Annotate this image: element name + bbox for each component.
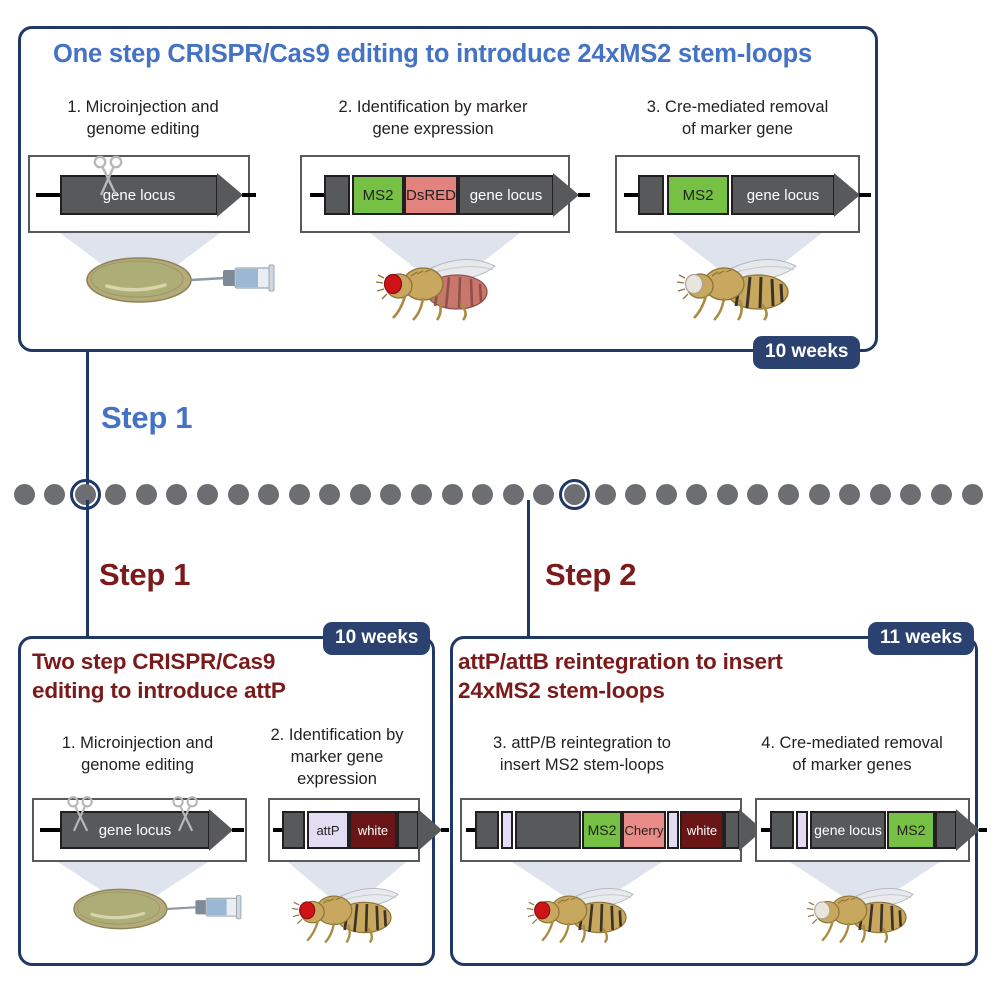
timeline-dot [747,484,768,505]
timeline-dot [900,484,921,505]
fly-red-eyes-illustration [525,880,645,946]
attp-site-segment [796,811,808,849]
embryo-with-needle-illustration [72,884,242,934]
timeline-dot [778,484,799,505]
gene-locus-segment: gene locus [458,175,554,215]
timeline-dot [533,484,554,505]
timeline-dot [809,484,830,505]
gene-locus-segment: gene locus [60,175,218,215]
attp-segment: attP [307,811,349,849]
arrow-head [834,173,860,217]
timeline-dot [166,484,187,505]
attb-site-segment [667,811,679,849]
backbone-line-left [310,193,324,197]
timeline-dot [442,484,463,505]
gene-locus-segment: gene locus [731,175,835,215]
backbone-line-left [761,828,770,832]
timeline-step2-lower-label: Step 2 [545,557,636,593]
ms2-segment: MS2 [582,811,622,849]
figure-canvas: One step CRISPR/Cas9 editing to introduc… [0,0,996,996]
backbone-line-left [40,828,60,832]
white-marker-segment: white [680,811,724,849]
timeline-dot [14,484,35,505]
arrow-head [418,809,442,851]
gene-locus-stub-segment [397,811,419,849]
timeline-dot [931,484,952,505]
connector-timeline-to-bottom-left [86,500,89,638]
timeline [0,484,996,508]
loxp-stub-segment [282,811,305,849]
fly-white-eyes-illustration [676,250,808,324]
bottom-left-construct-2: attP white [273,811,449,849]
backbone-line-left [466,828,475,832]
timeline-dot [105,484,126,505]
scissors-icon [66,795,96,835]
arrow-head [553,173,579,217]
backbone-line-right [441,828,449,832]
arrow-head [217,173,243,217]
timeline-dot [656,484,677,505]
timeline-dot [686,484,707,505]
bottom-right-construct-1: MS2 Cherry white [466,811,770,849]
timeline-dot [136,484,157,505]
backbone-line-left [36,193,60,197]
arrow-head [209,809,233,851]
top-step-2-caption: 2. Identification by marker gene express… [318,97,548,141]
ms2-segment: MS2 [667,175,729,215]
timeline-dot [503,484,524,505]
bottom-left-step-1-caption: 1. Microinjection and genome editing [40,733,235,777]
tail-stub-segment [724,811,740,849]
embryo-with-needle-illustration [85,252,275,308]
timeline-dot [289,484,310,505]
scissors-icon [92,155,126,199]
timeline-dot [258,484,279,505]
arrow-head [956,809,980,851]
timeline-dot [411,484,432,505]
top-construct-2: MS2 DsRED gene locus [310,175,590,215]
top-panel-title: One step CRISPR/Cas9 editing to introduc… [53,40,843,69]
gene-locus-body-segment [515,811,581,849]
timeline-step-marker[interactable] [559,479,590,510]
backbone-line-right [859,193,871,197]
connector-timeline-to-bottom-right [527,500,530,638]
timeline-dot [228,484,249,505]
timeline-dot [44,484,65,505]
attp-site-segment [501,811,513,849]
timeline-dot [625,484,646,505]
gene-locus-segment: gene locus [810,811,886,849]
timeline-dot [380,484,401,505]
connector-top-to-timeline [86,352,89,492]
fly-white-eyes-illustration [805,880,925,946]
bottom-right-duration-badge: 11 weeks [868,622,974,655]
scissors-icon [171,795,201,835]
timeline-dot [472,484,493,505]
bottom-left-duration-badge: 10 weeks [323,622,430,655]
top-panel-duration-badge: 10 weeks [753,336,860,369]
top-construct-1: gene locus [36,175,256,215]
backbone-line-left [273,828,282,832]
backbone-line-left [624,193,638,197]
bottom-right-step-3-caption: 3. attP/B reintegration to insert MS2 st… [472,733,692,777]
timeline-dot [870,484,891,505]
tail-stub-segment [935,811,957,849]
bottom-right-step-4-caption: 4. Cre-mediated removal of marker genes [742,733,962,777]
bottom-left-step-2-caption: 2. Identification by marker gene express… [257,725,417,790]
cherry-segment: Cherry [622,811,666,849]
timeline-step1-upper-label: Step 1 [101,400,192,436]
timeline-dot [595,484,616,505]
ms2-segment: MS2 [352,175,404,215]
loxp-stub-segment [475,811,499,849]
top-step-3-caption: 3. Cre-mediated removal of marker gene [625,97,850,141]
top-step-1-caption: 1. Microinjection and genome editing [38,97,248,141]
backbone-line-right [578,193,590,197]
timeline-dot [350,484,371,505]
loxp-stub-segment [770,811,794,849]
timeline-step1-lower-label: Step 1 [99,557,190,593]
dsred-segment: DsRED [404,175,458,215]
bottom-left-panel-title: Two step CRISPR/Cas9 editing to introduc… [32,648,352,705]
bottom-right-panel-title: attP/attB reintegration to insert 24xMS2… [458,648,938,705]
backbone-line-right [242,193,256,197]
timeline-dot [717,484,738,505]
loxp-stub-segment [324,175,350,215]
fly-red-eyes-illustration [290,880,410,946]
top-construct-3: MS2 gene locus [624,175,871,215]
timeline-dot [197,484,218,505]
timeline-dot [962,484,983,505]
bottom-right-construct-2: gene locus MS2 [761,811,987,849]
backbone-line-right [979,828,987,832]
loxp-stub-segment [638,175,664,215]
backbone-line-right [232,828,244,832]
timeline-dot [319,484,340,505]
fly-red-eyes-red-abdomen-illustration [375,250,507,324]
timeline-dot [839,484,860,505]
white-marker-segment: white [349,811,397,849]
ms2-segment: MS2 [887,811,935,849]
